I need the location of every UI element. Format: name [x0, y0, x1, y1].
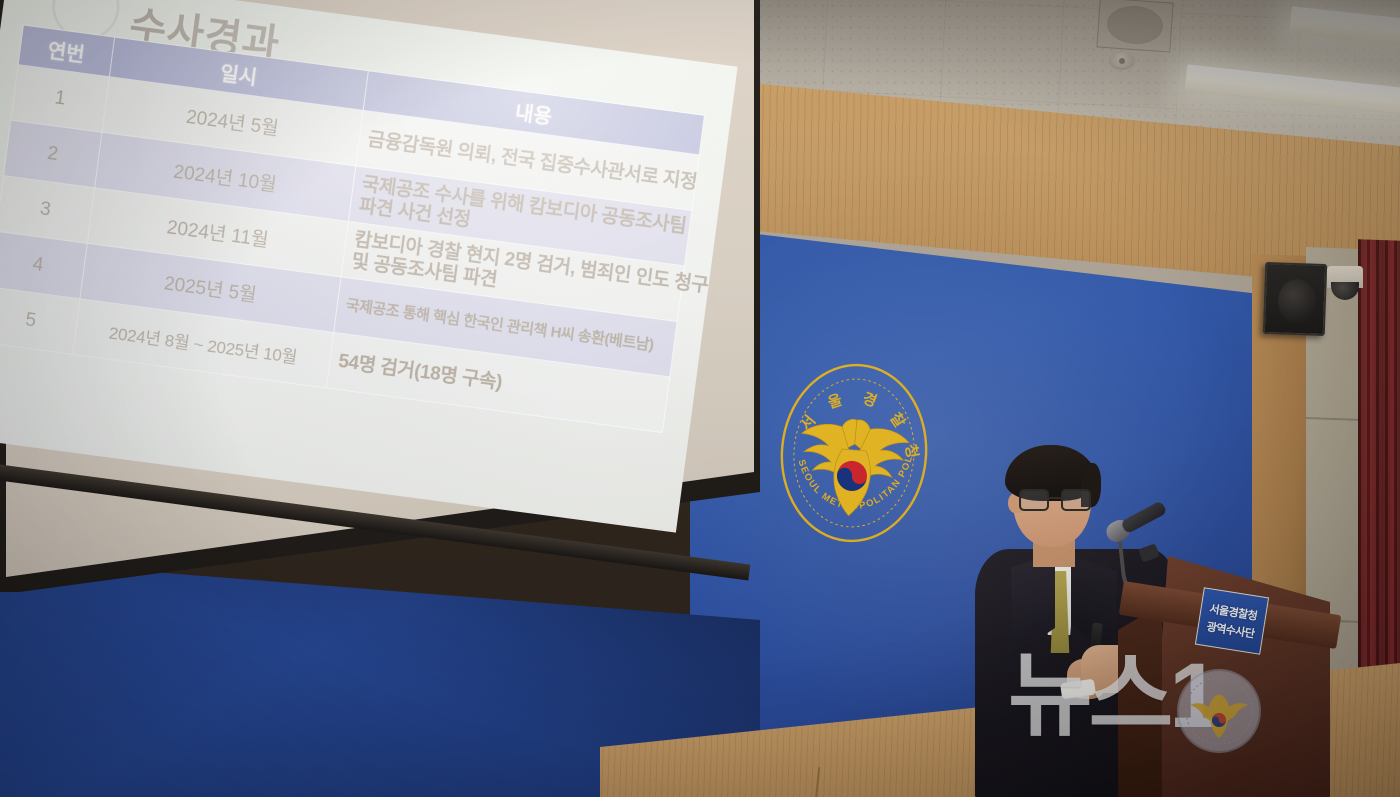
investigation-progress-table: 연번 일시 내용 1 2024년 5월 금융감독원 의뢰, 전국 집중수사관서로…: [0, 24, 705, 433]
cctv-camera-icon: [1327, 266, 1363, 288]
eyeglasses-icon: [1019, 489, 1095, 511]
press-briefing-photo: 서 울 경 찰 청 SEOUL METROPOLITAN POLICE AGEN…: [0, 0, 1400, 797]
seoul-police-emblem: 서 울 경 찰 청 SEOUL METROPOLITAN POLICE AGEN…: [762, 351, 946, 555]
podium-sign: 서울경찰청 광역수사단: [1195, 587, 1269, 655]
cell-no: 5: [0, 287, 80, 355]
podium-side: [1118, 604, 1162, 797]
cell-no: 4: [0, 231, 87, 299]
wall-speaker-icon: [1263, 262, 1327, 336]
